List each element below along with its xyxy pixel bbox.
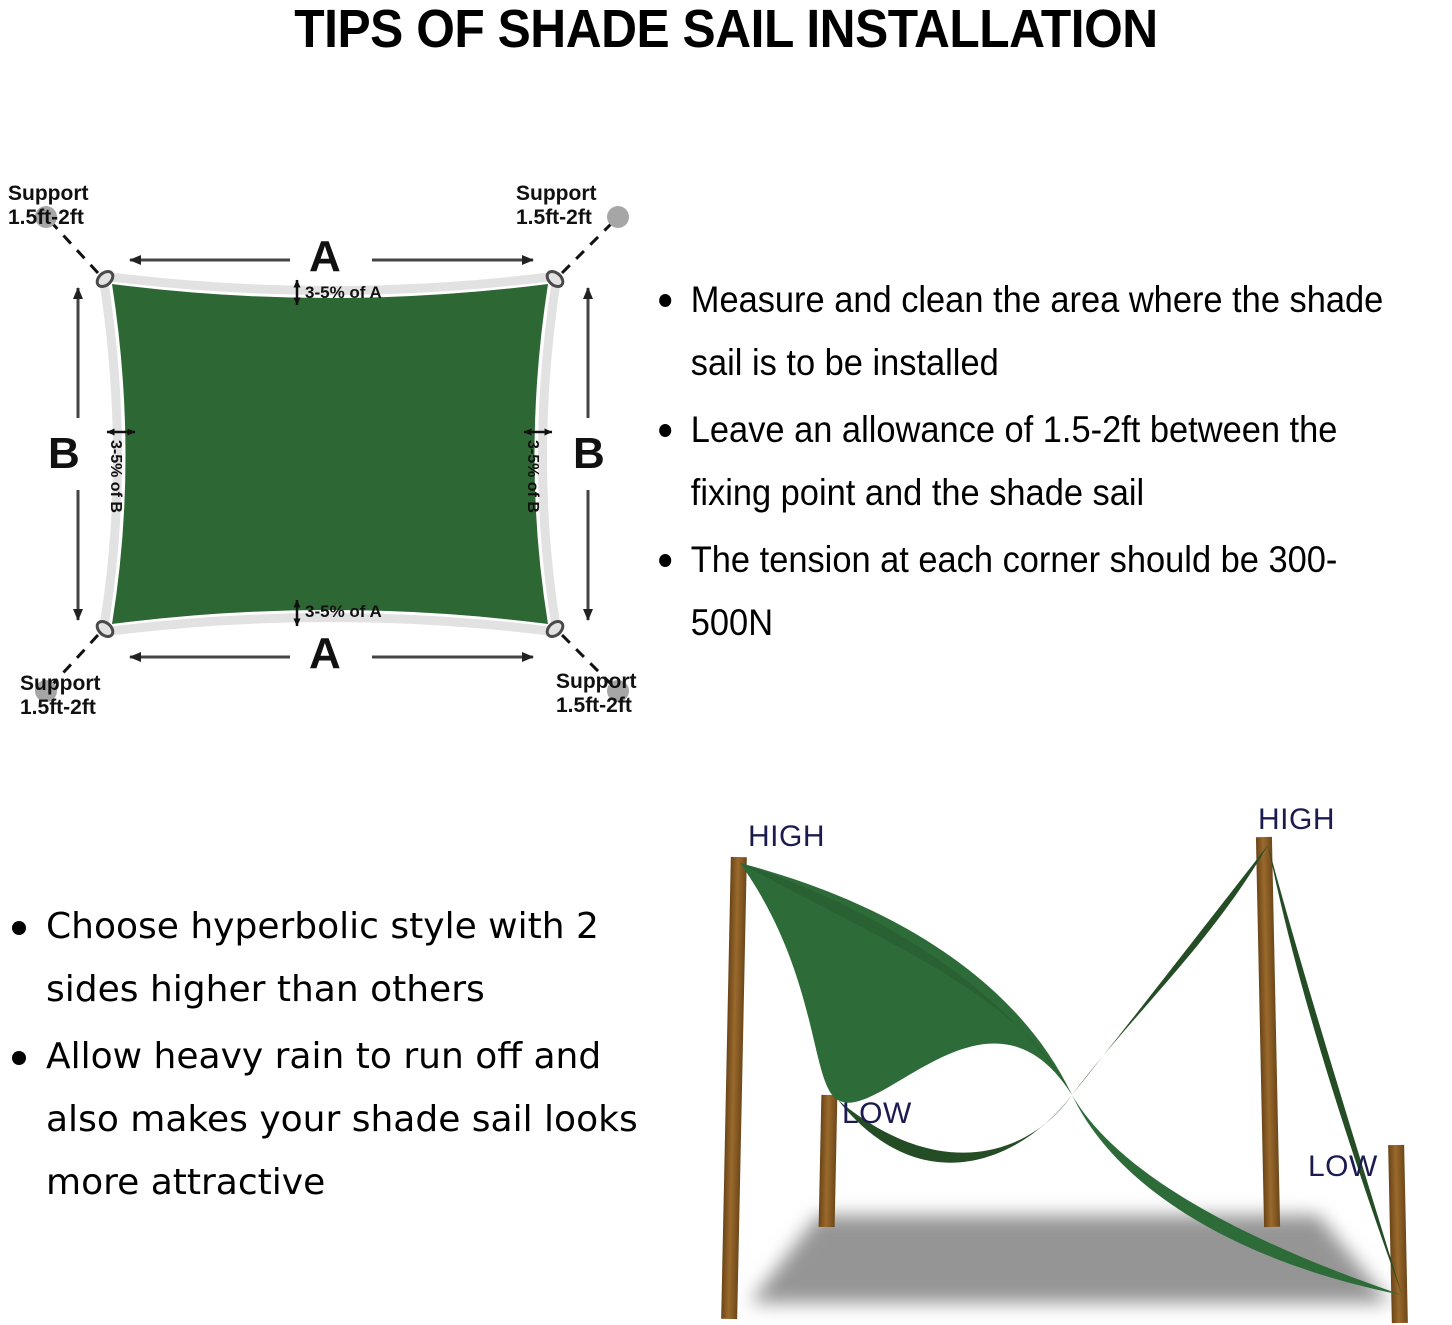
support-label-line2: 1.5ft-2ft [556, 694, 632, 717]
label-low-right: LOW [1308, 1150, 1378, 1184]
list-item: Allow heavy rain to run off and also mak… [0, 1025, 640, 1214]
support-label-line1: Support [516, 182, 596, 205]
support-label-bottom-left: Support 1.5ft-2ft [20, 672, 100, 720]
list-item: The tension at each corner should be 300… [648, 528, 1396, 654]
dimension-label-b-left: B [48, 432, 80, 476]
pole-low-right [1388, 1145, 1408, 1323]
pole-high-left [721, 857, 747, 1319]
tip-text: Choose hyperbolic style with 2 sides hig… [46, 906, 599, 1010]
sag-label-top: 3-5% of A [305, 284, 382, 302]
tip-text: Leave an allowance of 1.5-2ft between th… [691, 409, 1338, 513]
hyperbolic-sail-diagram: HIGH HIGH LOW LOW [690, 795, 1452, 1325]
tip-text: Allow heavy rain to run off and also mak… [46, 1036, 638, 1203]
support-label-line2: 1.5ft-2ft [8, 206, 84, 229]
support-label-line2: 1.5ft-2ft [516, 206, 592, 229]
sag-label-bottom: 3-5% of A [305, 603, 382, 621]
support-label-top-right: Support 1.5ft-2ft [516, 182, 596, 230]
dimension-label-a-top: A [309, 235, 341, 279]
list-item: Measure and clean the area where the sha… [648, 268, 1396, 394]
support-label-line1: Support [556, 670, 636, 693]
list-item: Choose hyperbolic style with 2 sides hig… [0, 895, 640, 1021]
label-low-left: LOW [842, 1097, 912, 1131]
dimension-label-b-right: B [573, 432, 605, 476]
installation-tips-list-top: Measure and clean the area where the sha… [648, 268, 1396, 658]
dimension-label-a-bottom: A [309, 632, 341, 676]
tip-text: Measure and clean the area where the sha… [691, 279, 1383, 383]
support-label-bottom-right: Support 1.5ft-2ft [556, 670, 636, 718]
label-high-left: HIGH [748, 820, 825, 854]
pole-high-right [1256, 837, 1280, 1227]
page-title: TIPS OF SHADE SAIL INSTALLATION [58, 0, 1394, 62]
sail-body [112, 284, 548, 624]
pole-low-left [819, 1095, 838, 1227]
sag-label-left: 3-5% of B [107, 440, 124, 513]
support-label-line2: 1.5ft-2ft [20, 696, 96, 719]
hypar-sail-svg [690, 795, 1452, 1325]
support-label-top-left: Support 1.5ft-2ft [8, 182, 88, 230]
label-high-right: HIGH [1258, 803, 1335, 837]
sag-label-right: 3-5% of B [524, 440, 541, 513]
support-label-line1: Support [20, 672, 100, 695]
support-label-line1: Support [8, 182, 88, 205]
tip-text: The tension at each corner should be 300… [691, 539, 1338, 643]
list-item: Leave an allowance of 1.5-2ft between th… [648, 398, 1396, 524]
installation-tips-list-bottom: Choose hyperbolic style with 2 sides hig… [0, 895, 640, 1218]
rectangular-sail-diagram: Support 1.5ft-2ft Support 1.5ft-2ft Supp… [0, 160, 660, 740]
